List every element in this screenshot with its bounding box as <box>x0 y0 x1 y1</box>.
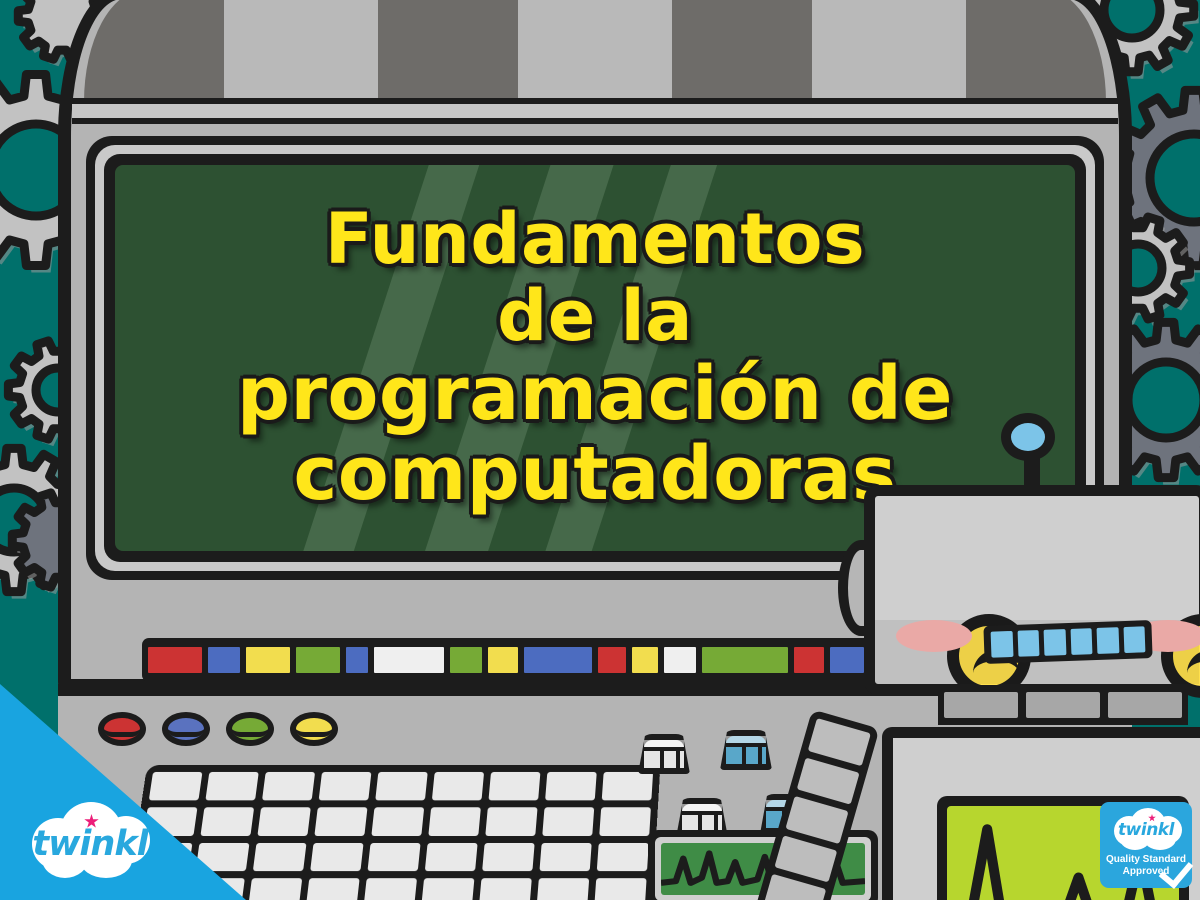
right-eye-pupil <box>1187 650 1200 674</box>
monitor-vent <box>525 0 665 102</box>
yellow-round-button[interactable] <box>290 712 338 746</box>
twinkl-logo[interactable]: twinkl <box>24 796 156 878</box>
keyboard-key[interactable] <box>257 807 310 836</box>
keyboard-key[interactable] <box>375 772 428 800</box>
keyboard-key[interactable] <box>248 878 302 900</box>
knob-ridge <box>758 747 762 764</box>
keyboard-key[interactable] <box>488 772 540 800</box>
keyboard-key[interactable] <box>314 807 367 836</box>
monitor-vent <box>672 0 812 102</box>
color-block <box>148 647 202 673</box>
monitor-vent <box>84 0 224 102</box>
monitor-vent <box>231 0 371 102</box>
color-block-strip <box>142 638 902 682</box>
knob-ridge <box>660 751 664 768</box>
keyboard-key[interactable] <box>479 878 532 900</box>
keyboard-key[interactable] <box>319 772 372 800</box>
monitor-vent <box>378 0 518 102</box>
keyboard-key[interactable] <box>428 807 481 836</box>
monitor-vent <box>966 0 1106 102</box>
keyboard-key[interactable] <box>367 842 420 871</box>
title-line-2: de la <box>497 279 693 353</box>
color-block <box>598 647 626 673</box>
keyboard-key[interactable] <box>262 772 315 800</box>
keyboard-key[interactable] <box>542 807 594 836</box>
keyboard-key[interactable] <box>310 842 363 871</box>
color-block <box>346 647 368 673</box>
color-block <box>296 647 340 673</box>
color-block <box>794 647 824 673</box>
badge-wordmark: twinkl <box>1100 820 1192 840</box>
antenna-bulb-icon <box>1001 413 1055 461</box>
keyboard-key[interactable] <box>539 842 591 871</box>
robot-mouth <box>983 620 1152 664</box>
twinkl-wordmark: twinkl <box>24 824 156 864</box>
arm-segment <box>774 835 837 883</box>
keyboard-key[interactable] <box>545 772 597 800</box>
neck-segment <box>1108 692 1182 718</box>
arm-segment <box>797 757 860 805</box>
quality-standard-badge: twinkl Quality Standard Approved <box>1100 802 1192 888</box>
color-block <box>632 647 658 673</box>
robot-tooth <box>991 631 1013 658</box>
keyboard-key[interactable] <box>602 772 653 800</box>
keyboard-key[interactable] <box>594 878 646 900</box>
monitor-divider-bar <box>72 98 1118 124</box>
keyboard-key[interactable] <box>432 772 484 800</box>
keyboard-key[interactable] <box>537 878 590 900</box>
keyboard-key[interactable] <box>253 842 307 871</box>
color-block <box>524 647 592 673</box>
robot-tooth <box>1097 627 1119 654</box>
arm-segment <box>785 796 848 844</box>
title-line-4: computadoras <box>293 435 896 513</box>
keyboard-key[interactable] <box>599 807 651 836</box>
title-line-1: Fundamentos <box>325 202 865 276</box>
color-block <box>450 647 482 673</box>
arm-segment <box>808 718 871 766</box>
keyboard-key[interactable] <box>485 807 537 836</box>
neck-segment <box>1026 692 1100 718</box>
gear-right-2-hole <box>1150 134 1200 222</box>
knob-cap <box>726 736 766 747</box>
keyboard-key[interactable] <box>363 878 417 900</box>
knob-cap <box>644 740 684 751</box>
knob-ridge <box>742 747 746 764</box>
robot-tooth <box>1044 629 1066 656</box>
keyboard-key[interactable] <box>306 878 360 900</box>
color-block <box>488 647 518 673</box>
color-block <box>208 647 240 673</box>
knob-ridge <box>676 751 680 768</box>
left-blush <box>896 620 972 652</box>
keyboard-key[interactable] <box>371 807 424 836</box>
monitor-vent <box>819 0 959 102</box>
keyboard-key[interactable] <box>421 878 474 900</box>
monitor-vents <box>84 0 1106 102</box>
robot-tooth <box>1070 628 1092 655</box>
knob-cap <box>682 804 722 815</box>
keyboard-key[interactable] <box>597 842 649 871</box>
robot-head <box>864 485 1200 695</box>
keyboard-key[interactable] <box>425 842 478 871</box>
robot-neck <box>938 685 1188 725</box>
knob-1[interactable] <box>638 734 690 774</box>
color-block <box>374 647 444 673</box>
robot-tooth <box>1123 626 1145 653</box>
color-block <box>702 647 788 673</box>
robot-tooth <box>1017 630 1039 657</box>
keyboard-key[interactable] <box>482 842 535 871</box>
knob-2[interactable] <box>720 730 772 770</box>
slide-canvas: Fundamentos de la programación de comput… <box>0 0 1200 900</box>
neck-segment <box>944 692 1018 718</box>
color-block <box>664 647 696 673</box>
color-block <box>246 647 290 673</box>
